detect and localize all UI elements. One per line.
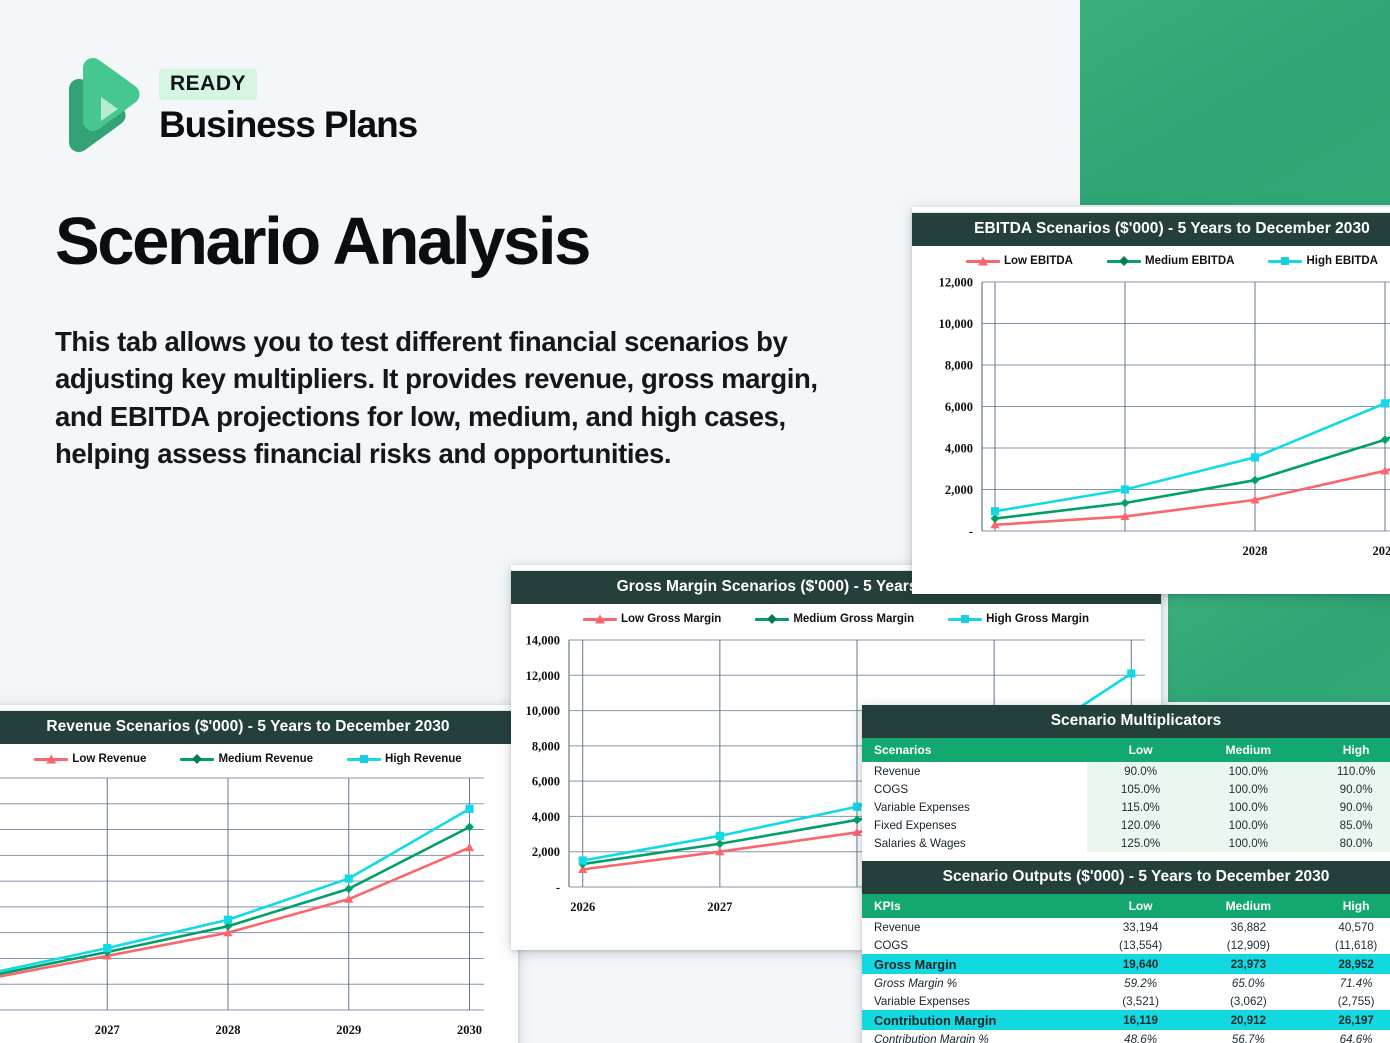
column-header-medium: Medium (1194, 738, 1302, 762)
cell-low: 90.0% (1087, 762, 1195, 780)
legend-marker-low-icon (966, 260, 1000, 263)
row-label: Gross Margin (862, 954, 1087, 974)
cell-medium: 100.0% (1194, 780, 1302, 798)
cell-high: 64.6% (1302, 1030, 1390, 1043)
column-header-kpis: KPIs (862, 894, 1087, 918)
legend-item-high-gross-margin: High Gross Margin (948, 613, 1089, 625)
svg-text:-: - (969, 525, 973, 539)
svg-text:2030: 2030 (457, 1023, 482, 1037)
column-header-high: High (1302, 894, 1390, 918)
revenue-chart-legend: Low Revenue Medium Revenue High Revenue (0, 744, 518, 772)
legend-label: High EBITDA (1306, 255, 1378, 267)
decorative-green-block-middle (1168, 589, 1390, 702)
legend-item-high-ebitda: High EBITDA (1268, 255, 1378, 267)
cell-low: 115.0% (1087, 798, 1195, 816)
cell-high: 71.4% (1302, 974, 1390, 992)
cell-medium: 100.0% (1194, 816, 1302, 834)
legend-label: Medium Gross Margin (793, 613, 914, 625)
legend-item-medium-ebitda: Medium EBITDA (1107, 255, 1234, 267)
table-row: COGS105.0%100.0%90.0% (862, 780, 1390, 798)
legend-marker-high-icon (347, 758, 381, 761)
svg-text:2,000: 2,000 (945, 483, 973, 497)
row-label: Contribution Margin (862, 1010, 1087, 1030)
cell-high: 90.0% (1302, 780, 1390, 798)
svg-text:4,000: 4,000 (945, 442, 973, 456)
legend-label: Medium EBITDA (1145, 255, 1234, 267)
svg-text:2029: 2029 (1373, 544, 1390, 558)
table-row: COGS(13,554)(12,909)(11,618) (862, 936, 1390, 954)
legend-item-high-revenue: High Revenue (347, 753, 462, 765)
play-triangle-logo-icon (55, 55, 141, 160)
table-row: Gross Margin %59.2%65.0%71.4% (862, 974, 1390, 992)
legend-marker-low-icon (583, 618, 617, 621)
table-row: Salaries & Wages125.0%100.0%80.0% (862, 834, 1390, 852)
row-label: Variable Expenses (862, 798, 1087, 816)
cell-high: (2,755) (1302, 992, 1390, 1010)
legend-label: Low Revenue (72, 753, 146, 765)
row-label: Fixed Expenses (862, 816, 1087, 834)
table-row: Contribution Margin16,11920,91226,197 (862, 1010, 1390, 1030)
brand-title: Business Plans (159, 104, 417, 146)
table-row: Variable Expenses(3,521)(3,062)(2,755) (862, 992, 1390, 1010)
svg-text:2027: 2027 (95, 1023, 120, 1037)
svg-text:14,000: 14,000 (526, 634, 560, 648)
revenue-plot-area: 20262027202820292030 (0, 772, 518, 1043)
svg-text:4,000: 4,000 (532, 810, 560, 824)
table-header-row: KPIs Low Medium High (862, 894, 1390, 918)
column-header-low: Low (1087, 738, 1195, 762)
legend-label: Medium Revenue (218, 753, 313, 765)
cell-medium: 23,973 (1194, 954, 1302, 974)
cell-medium: 20,912 (1194, 1010, 1302, 1030)
column-header-low: Low (1087, 894, 1195, 918)
outputs-banner: Scenario Outputs ($'000) - 5 Years to De… (862, 861, 1390, 894)
multiplicators-banner: Scenario Multiplicators (862, 705, 1390, 738)
svg-text:2,000: 2,000 (532, 845, 560, 859)
cell-high: 80.0% (1302, 834, 1390, 852)
svg-text:8,000: 8,000 (945, 359, 973, 373)
cell-medium: 56.7% (1194, 1030, 1302, 1043)
cell-medium: (12,909) (1194, 936, 1302, 954)
ebitda-plot-svg: -2,0004,0006,0008,00010,00012,0002028202… (912, 274, 1390, 581)
cell-low: 48.6% (1087, 1030, 1195, 1043)
svg-text:2027: 2027 (707, 900, 732, 914)
cell-low: 33,194 (1087, 918, 1195, 936)
legend-label: High Revenue (385, 753, 462, 765)
cell-high: (11,618) (1302, 936, 1390, 954)
revenue-plot-svg: 20262027202820292030 (0, 772, 518, 1043)
chart-panel-ebitda: EBITDA Scenarios ($'000) - 5 Years to De… (912, 207, 1390, 594)
cell-medium: 36,882 (1194, 918, 1302, 936)
cell-medium: 65.0% (1194, 974, 1302, 992)
column-header-medium: Medium (1194, 894, 1302, 918)
decorative-green-block-top (1080, 0, 1390, 205)
row-label: Contribution Margin % (862, 1030, 1087, 1043)
legend-item-low-revenue: Low Revenue (34, 753, 146, 765)
legend-marker-medium-icon (180, 758, 214, 761)
cell-low: 125.0% (1087, 834, 1195, 852)
legend-item-medium-revenue: Medium Revenue (180, 753, 313, 765)
table-row: Fixed Expenses120.0%100.0%85.0% (862, 816, 1390, 834)
svg-text:2028: 2028 (1243, 544, 1268, 558)
table-row: Gross Margin19,64023,97328,952 (862, 954, 1390, 974)
column-header-scenarios: Scenarios (862, 738, 1087, 762)
cell-medium: (3,062) (1194, 992, 1302, 1010)
cell-low: (13,554) (1087, 936, 1195, 954)
column-header-high: High (1302, 738, 1390, 762)
page-description: This tab allows you to test different fi… (55, 323, 855, 473)
svg-text:10,000: 10,000 (939, 317, 973, 331)
svg-text:2028: 2028 (216, 1023, 241, 1037)
legend-label: Low EBITDA (1004, 255, 1073, 267)
scenario-tables-panel: Scenario Multiplicators Scenarios Low Me… (862, 705, 1390, 1043)
table-header-row: Scenarios Low Medium High (862, 738, 1390, 762)
page-title: Scenario Analysis (55, 203, 589, 280)
cell-low: 105.0% (1087, 780, 1195, 798)
legend-label: Low Gross Margin (621, 613, 721, 625)
ebitda-chart-title: EBITDA Scenarios ($'000) - 5 Years to De… (912, 213, 1390, 246)
legend-marker-low-icon (34, 758, 68, 761)
legend-item-low-gross-margin: Low Gross Margin (583, 613, 721, 625)
cell-medium: 100.0% (1194, 762, 1302, 780)
legend-item-medium-gross-margin: Medium Gross Margin (755, 613, 914, 625)
svg-text:6,000: 6,000 (945, 400, 973, 414)
legend-marker-medium-icon (1107, 260, 1141, 263)
table-spacer (862, 852, 1390, 861)
cell-high: 110.0% (1302, 762, 1390, 780)
chart-panel-revenue: Revenue Scenarios ($'000) - 5 Years to D… (0, 705, 518, 1043)
ebitda-plot-area: -2,0004,0006,0008,00010,00012,0002028202… (912, 274, 1390, 581)
svg-text:12,000: 12,000 (939, 276, 973, 290)
svg-text:2026: 2026 (570, 900, 595, 914)
svg-text:12,000: 12,000 (526, 669, 560, 683)
table-row: Variable Expenses115.0%100.0%90.0% (862, 798, 1390, 816)
legend-label: High Gross Margin (986, 613, 1089, 625)
ebitda-chart-legend: Low EBITDA Medium EBITDA High EBITDA (912, 246, 1390, 274)
cell-low: 120.0% (1087, 816, 1195, 834)
cell-low: 59.2% (1087, 974, 1195, 992)
svg-text:8,000: 8,000 (532, 739, 560, 753)
revenue-chart-title: Revenue Scenarios ($'000) - 5 Years to D… (0, 711, 518, 744)
row-label: COGS (862, 780, 1087, 798)
legend-marker-medium-icon (755, 618, 789, 621)
cell-high: 28,952 (1302, 954, 1390, 974)
gross-margin-chart-legend: Low Gross Margin Medium Gross Margin Hig… (511, 604, 1161, 632)
table-row: Contribution Margin %48.6%56.7%64.6% (862, 1030, 1390, 1043)
brand-logo: READY Business Plans (55, 55, 417, 160)
scenario-multiplicators-table: Scenarios Low Medium High Revenue90.0%10… (862, 738, 1390, 852)
cell-low: 19,640 (1087, 954, 1195, 974)
row-label: Variable Expenses (862, 992, 1087, 1010)
cell-high: 90.0% (1302, 798, 1390, 816)
legend-marker-high-icon (948, 618, 982, 621)
svg-text:6,000: 6,000 (532, 775, 560, 789)
cell-low: (3,521) (1087, 992, 1195, 1010)
svg-text:10,000: 10,000 (526, 704, 560, 718)
cell-high: 26,197 (1302, 1010, 1390, 1030)
table-row: Revenue33,19436,88240,570 (862, 918, 1390, 936)
row-label: Revenue (862, 918, 1087, 936)
cell-high: 85.0% (1302, 816, 1390, 834)
row-label: Revenue (862, 762, 1087, 780)
legend-marker-high-icon (1268, 260, 1302, 263)
row-label: Gross Margin % (862, 974, 1087, 992)
legend-item-low-ebitda: Low EBITDA (966, 255, 1073, 267)
ready-badge: READY (159, 69, 257, 100)
cell-medium: 100.0% (1194, 798, 1302, 816)
cell-high: 40,570 (1302, 918, 1390, 936)
row-label: Salaries & Wages (862, 834, 1087, 852)
cell-medium: 100.0% (1194, 834, 1302, 852)
svg-text:-: - (556, 881, 560, 895)
table-row: Revenue90.0%100.0%110.0% (862, 762, 1390, 780)
scenario-outputs-table: KPIs Low Medium High Revenue33,19436,882… (862, 894, 1390, 1043)
row-label: COGS (862, 936, 1087, 954)
cell-low: 16,119 (1087, 1010, 1195, 1030)
svg-text:2029: 2029 (336, 1023, 361, 1037)
